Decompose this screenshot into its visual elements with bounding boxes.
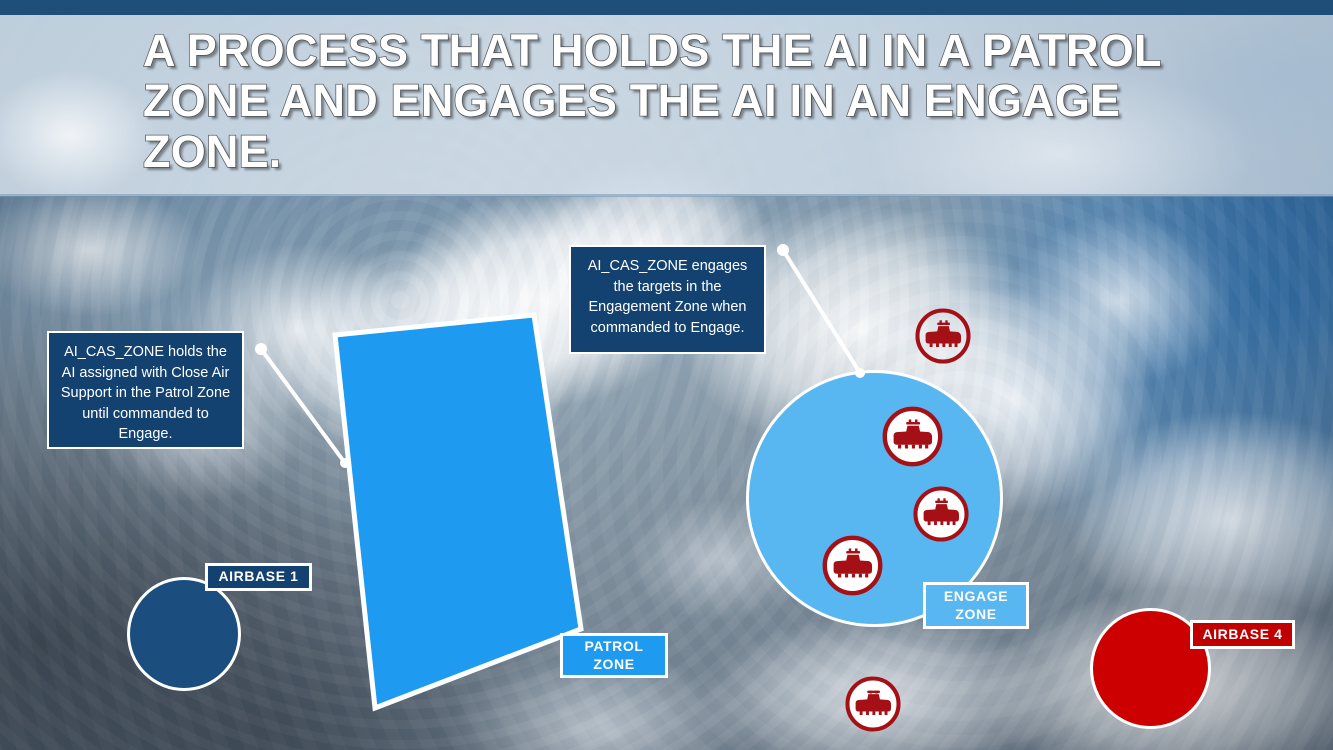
- callout-patrol-zone[interactable]: AI_CAS_ZONE holds the AI assigned with C…: [47, 331, 244, 449]
- label-airbase-4[interactable]: AIRBASE 4: [1190, 620, 1295, 649]
- target-marker-armored-vehicle[interactable]: [881, 405, 944, 468]
- label-engage-zone[interactable]: ENGAGE ZONE: [923, 582, 1029, 629]
- target-marker-armored-vehicle[interactable]: [912, 485, 970, 543]
- page-title: A PROCESS THAT HOLDS THE AI IN A PATROL …: [143, 26, 1213, 177]
- target-marker-armored-vehicle[interactable]: [844, 675, 902, 733]
- title-band-edge: [0, 194, 1333, 197]
- label-airbase-1[interactable]: AIRBASE 1: [205, 563, 312, 591]
- patrol-zone-shape[interactable]: [325, 305, 595, 715]
- airbase-1-shape[interactable]: [127, 577, 241, 691]
- slide-canvas: A PROCESS THAT HOLDS THE AI IN A PATROL …: [0, 0, 1333, 750]
- label-patrol-zone-line1: PATROL: [584, 638, 643, 656]
- label-patrol-zone-line2: ZONE: [593, 656, 634, 674]
- label-engage-zone-line1: ENGAGE: [944, 588, 1008, 606]
- top-accent-strip: [0, 0, 1333, 15]
- target-marker-armored-vehicle[interactable]: [914, 307, 972, 365]
- callout-engage-zone[interactable]: AI_CAS_ZONE engages the targets in the E…: [569, 245, 766, 354]
- label-engage-zone-line2: ZONE: [955, 606, 996, 624]
- label-patrol-zone[interactable]: PATROL ZONE: [560, 633, 668, 678]
- label-airbase-1-text: AIRBASE 1: [218, 568, 298, 586]
- label-airbase-4-text: AIRBASE 4: [1202, 626, 1282, 644]
- target-marker-armored-vehicle[interactable]: [821, 534, 884, 597]
